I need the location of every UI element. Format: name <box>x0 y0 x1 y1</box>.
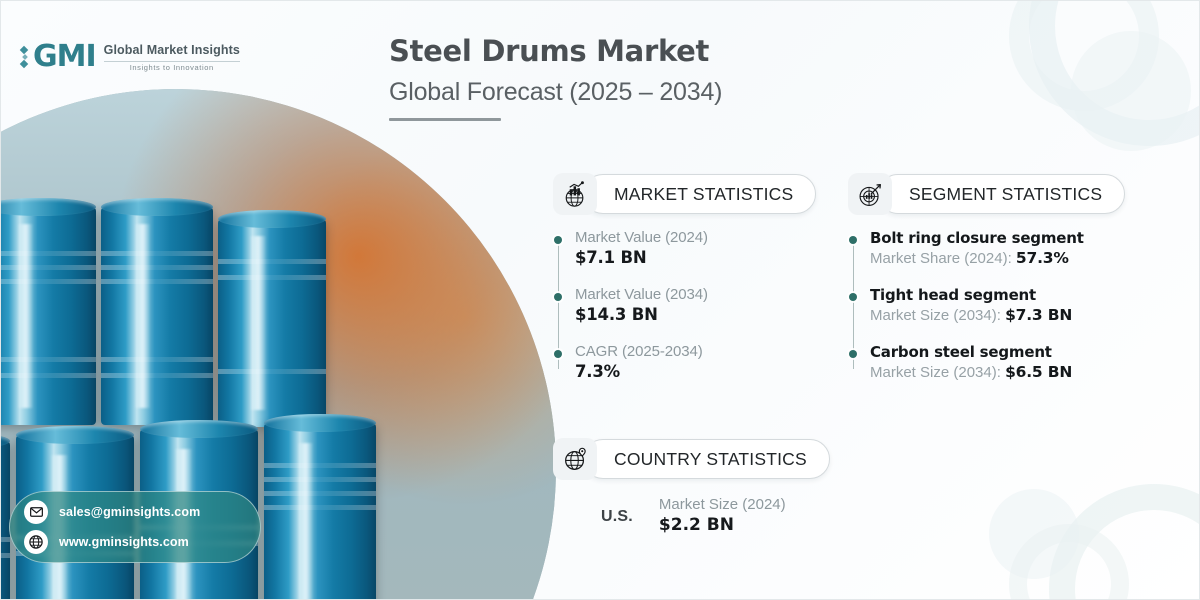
logo-diamonds-icon <box>21 47 27 67</box>
segment-metric: Market Size (2034): $6.5 BN <box>870 363 1125 381</box>
brand-logo[interactable]: GMI Global Market Insights Insights to I… <box>21 39 240 74</box>
envelope-icon <box>24 500 48 524</box>
contact-email: sales@gminsights.com <box>59 505 200 519</box>
segment-name: Bolt ring closure segment <box>870 229 1125 247</box>
list-item: Market Value (2034) $14.3 BN <box>575 286 816 324</box>
drum <box>1 207 96 425</box>
country-statistics-header: COUNTRY STATISTICS <box>553 438 830 480</box>
segment-metric-value: $6.5 BN <box>1005 363 1072 381</box>
logo-tagline: Insights to Innovation <box>104 61 240 72</box>
market-statistics-block: MARKET STATISTICS Market Value (2024) $7… <box>553 173 816 381</box>
market-statistics-list: Market Value (2024) $7.1 BN Market Value… <box>553 229 816 381</box>
globe-icon <box>24 530 48 554</box>
list-item: Bolt ring closure segment Market Share (… <box>870 229 1125 267</box>
country-statistics-caption: COUNTRY STATISTICS <box>583 439 830 479</box>
stat-value: $14.3 BN <box>575 305 816 324</box>
timeline-dot <box>849 236 857 244</box>
drum <box>264 423 376 600</box>
infographic-canvas: sales@gminsights.com www.gminsights.com <box>0 0 1200 600</box>
title-underline <box>389 118 501 121</box>
timeline-dot <box>554 293 562 301</box>
logo-initials: GMI <box>33 39 96 74</box>
country-stat-value: $2.2 BN <box>659 515 786 535</box>
contact-email-row[interactable]: sales@gminsights.com <box>24 500 246 524</box>
page-title: Steel Drums Market <box>389 34 722 68</box>
contact-website: www.gminsights.com <box>59 535 189 549</box>
segment-metric-label: Market Share (2024): <box>870 250 1016 267</box>
stat-value: $7.1 BN <box>575 248 816 267</box>
globe-pin-icon <box>553 438 597 480</box>
stat-label: Market Value (2034) <box>575 286 816 303</box>
country-name: U.S. <box>601 496 633 526</box>
list-item: Market Value (2024) $7.1 BN <box>575 229 816 267</box>
stat-value: 7.3% <box>575 362 816 381</box>
logo-company-name: Global Market Insights <box>104 43 240 57</box>
page-header: Steel Drums Market Global Forecast (2025… <box>389 34 722 121</box>
country-stat-label: Market Size (2024) <box>659 496 786 513</box>
country-statistics-block: COUNTRY STATISTICS U.S. Market Size (202… <box>553 438 830 535</box>
segment-metric: Market Size (2034): $7.3 BN <box>870 306 1125 324</box>
segment-statistics-block: SEGMENT STATISTICS Bolt ring closure seg… <box>848 173 1125 381</box>
country-statistics-row: U.S. Market Size (2024) $2.2 BN <box>553 496 830 535</box>
market-statistics-caption: MARKET STATISTICS <box>583 174 816 214</box>
segment-statistics-list: Bolt ring closure segment Market Share (… <box>848 229 1125 381</box>
segment-metric: Market Share (2024): 57.3% <box>870 249 1125 267</box>
target-arrow-icon <box>848 173 892 215</box>
page-subtitle: Global Forecast (2025 – 2034) <box>389 78 722 107</box>
timeline-dot <box>554 236 562 244</box>
stat-label: CAGR (2025-2034) <box>575 343 816 360</box>
list-item: Carbon steel segment Market Size (2034):… <box>870 343 1125 381</box>
drum <box>101 207 213 425</box>
segment-metric-value: 57.3% <box>1016 249 1069 267</box>
market-statistics-header: MARKET STATISTICS <box>553 173 816 215</box>
segment-statistics-header: SEGMENT STATISTICS <box>848 173 1125 215</box>
segment-metric-value: $7.3 BN <box>1005 306 1072 324</box>
globe-chart-icon <box>553 173 597 215</box>
segment-metric-label: Market Size (2034): <box>870 364 1005 381</box>
timeline-dot <box>849 293 857 301</box>
decorative-blob <box>989 489 1079 579</box>
decorative-blob <box>1071 31 1191 151</box>
segment-metric-label: Market Size (2034): <box>870 307 1005 324</box>
contact-panel: sales@gminsights.com www.gminsights.com <box>9 491 261 563</box>
stat-label: Market Value (2024) <box>575 229 816 246</box>
list-item: Tight head segment Market Size (2034): $… <box>870 286 1125 324</box>
segment-name: Tight head segment <box>870 286 1125 304</box>
timeline-dot <box>849 350 857 358</box>
segment-statistics-caption: SEGMENT STATISTICS <box>878 174 1125 214</box>
segment-name: Carbon steel segment <box>870 343 1125 361</box>
list-item: CAGR (2025-2034) 7.3% <box>575 343 816 381</box>
contact-website-row[interactable]: www.gminsights.com <box>24 530 246 554</box>
drum <box>218 219 326 427</box>
timeline-dot <box>554 350 562 358</box>
